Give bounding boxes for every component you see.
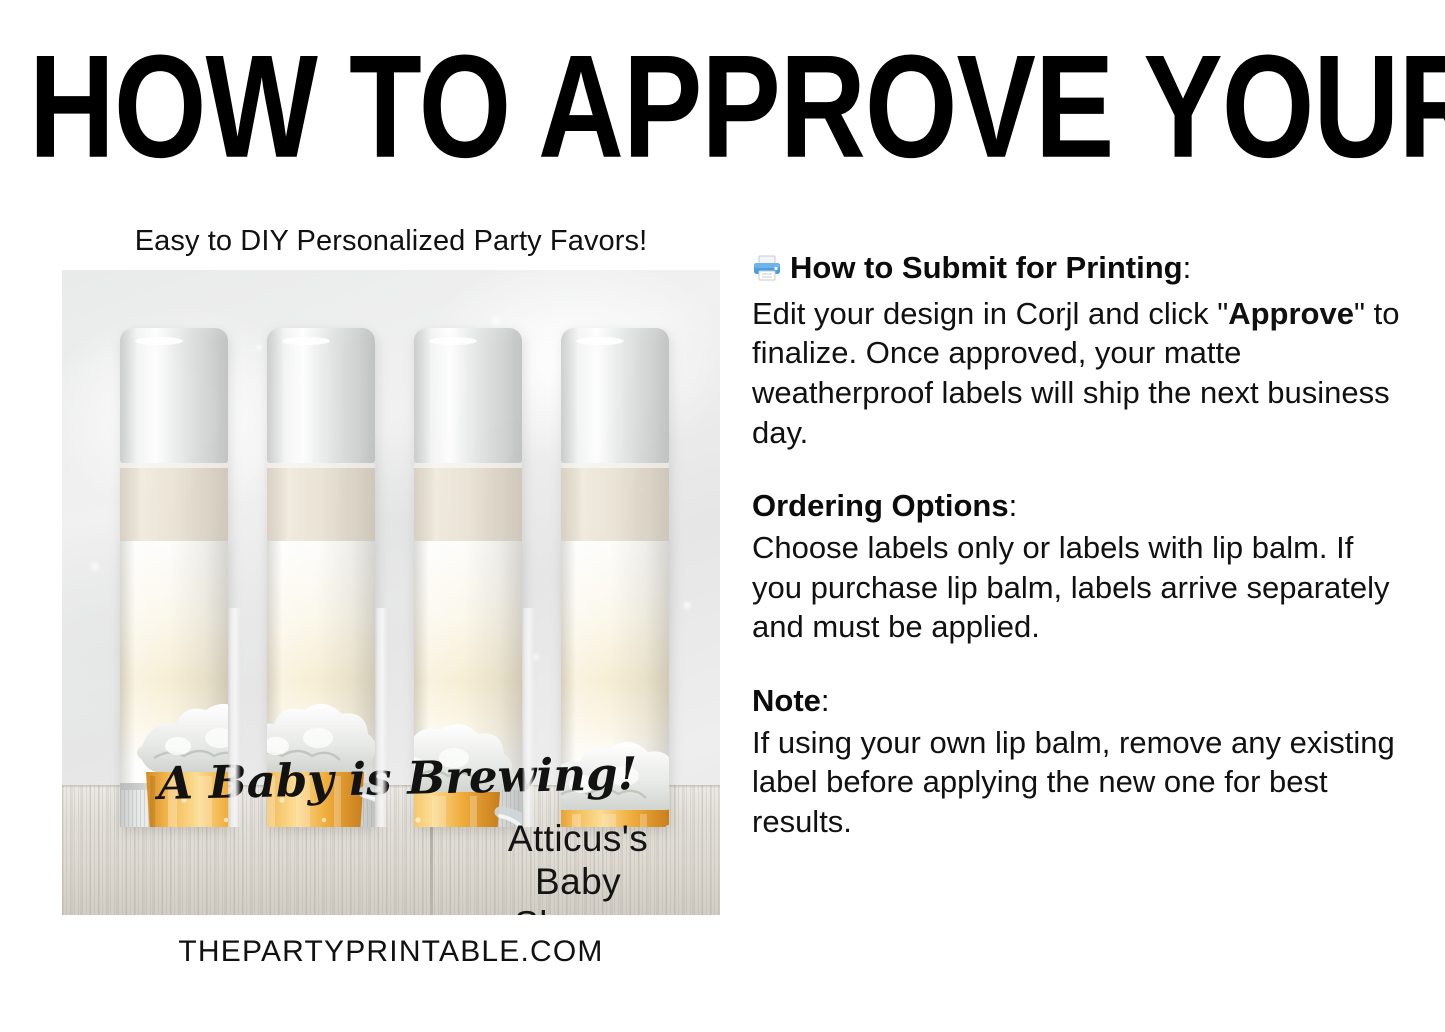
product-photo: A Baby is Brewing! Atticus's Baby Shower <box>62 270 720 915</box>
tube-cap <box>120 328 228 463</box>
label-shading <box>561 541 669 783</box>
tube-label <box>267 541 375 783</box>
section-note: Note: If using your own lip balm, remove… <box>752 681 1402 842</box>
tube-cap <box>561 328 669 463</box>
label-shading <box>267 541 375 783</box>
lip-balm-tube-3 <box>414 328 522 827</box>
section-heading-colon: : <box>1183 250 1192 285</box>
section-heading-colon: : <box>1009 488 1018 523</box>
section-heading-text: Note <box>752 683 821 718</box>
section-heading-colon: : <box>821 683 830 718</box>
lip-balm-tube-4 <box>561 328 669 827</box>
tube-base <box>267 783 375 827</box>
section-heading-text: Ordering Options <box>752 488 1009 523</box>
left-column: Easy to DIY Personalized Party Favors! <box>62 225 720 969</box>
tube-base <box>414 783 522 827</box>
tube-balm <box>561 463 669 541</box>
tube-body <box>120 541 228 827</box>
section-how-to-submit: How to Submit for Printing: Edit your de… <box>752 248 1402 452</box>
approve-emphasis: Approve <box>1228 296 1354 331</box>
section-heading: Ordering Options: <box>752 486 1402 526</box>
subtitle: Easy to DIY Personalized Party Favors! <box>62 225 720 258</box>
tube-body <box>414 541 522 827</box>
lip-balm-tube-1 <box>120 328 228 827</box>
body-text-part-1: Edit your design in Corjl and click " <box>752 296 1228 331</box>
section-ordering-options: Ordering Options: Choose labels only or … <box>752 486 1402 647</box>
label-shading <box>414 541 522 783</box>
tube-base <box>120 783 228 827</box>
section-body: Edit your design in Corjl and click "App… <box>752 294 1402 453</box>
tube-body <box>561 541 669 827</box>
tube-balm <box>120 463 228 541</box>
tube-cap <box>414 328 522 463</box>
section-body: If using your own lip balm, remove any e… <box>752 723 1402 842</box>
section-heading-text: How to Submit for Printing <box>790 250 1183 285</box>
printer-icon <box>752 252 782 292</box>
footer-website-url: THEPARTYPRINTABLE.COM <box>62 935 720 969</box>
tube-body <box>267 541 375 827</box>
tube-balm <box>414 463 522 541</box>
section-body: Choose labels only or labels with lip ba… <box>752 528 1402 647</box>
tube-cap <box>267 328 375 463</box>
page-title: HOW TO APPROVE YOUR EDIT <box>29 34 1416 180</box>
tube-label <box>414 541 522 783</box>
tube-base <box>561 783 669 827</box>
section-heading: Note: <box>752 681 1402 721</box>
right-column: How to Submit for Printing: Edit your de… <box>752 248 1402 842</box>
section-heading: How to Submit for Printing: <box>752 248 1402 292</box>
label-shading <box>120 541 228 783</box>
tube-label <box>120 541 228 783</box>
lip-balm-tube-2 <box>267 328 375 827</box>
tube-label <box>561 541 669 783</box>
tube-balm <box>267 463 375 541</box>
